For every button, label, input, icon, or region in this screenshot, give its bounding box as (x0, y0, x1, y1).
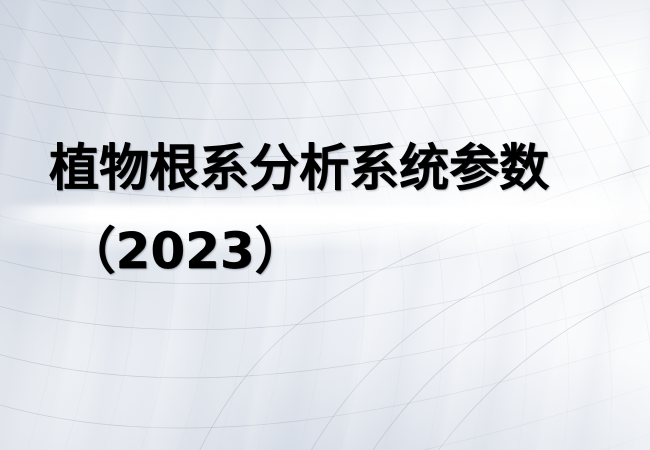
slide-title-line-1: 植物根系分析系统参数 (0, 139, 624, 197)
title-block: 植物根系分析系统参数 （2023） (0, 0, 650, 450)
slide-title-line-2: （2023） (0, 222, 510, 280)
title-slide: 植物根系分析系统参数 （2023） (0, 0, 650, 450)
